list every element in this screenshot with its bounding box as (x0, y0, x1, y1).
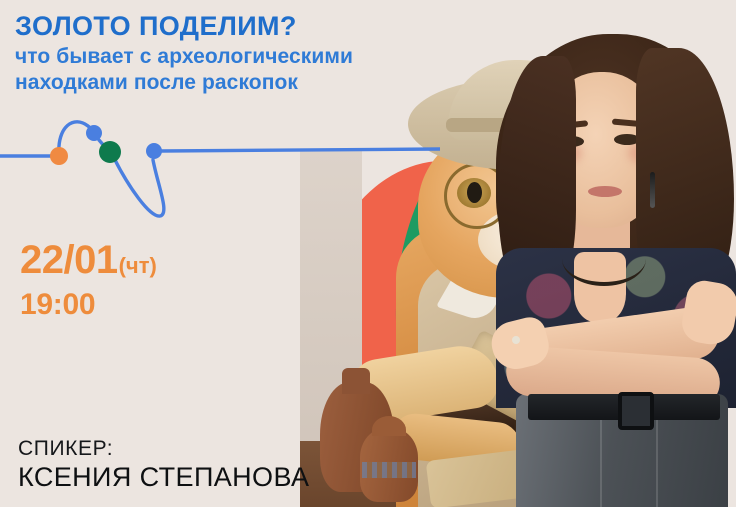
node-orange (50, 147, 68, 165)
headline-subtitle-line1: что бывает с археологическими (15, 45, 353, 68)
headline-block: ЗОЛОТО ПОДЕЛИМ? что бывает с археологиче… (15, 12, 475, 95)
woman-trousers-pleat (600, 420, 602, 507)
headline-subtitle: что бывает с археологическими находками … (15, 44, 475, 95)
event-poster: ЗОЛОТО ПОДЕЛИМ? что бывает с археологиче… (0, 0, 736, 507)
clay-pot-small-neck (372, 416, 406, 436)
node-green (99, 141, 121, 163)
woman-trousers-pleat (656, 420, 658, 507)
chart-line-right-segment (161, 149, 440, 151)
decorative-chart-line (0, 108, 440, 226)
woman-lips (588, 186, 622, 197)
datetime-block: 22/01 (чт) 19:00 (20, 240, 157, 320)
woman-earring (650, 172, 655, 208)
event-date: 22/01 (20, 240, 118, 280)
speaker-block: СПИКЕР: КСЕНИЯ СТЕПАНОВА (18, 437, 309, 494)
woman-belt-buckle (618, 392, 654, 430)
chart-line-dip-curve (114, 158, 164, 216)
speaker-name: КСЕНИЯ СТЕПАНОВА (18, 462, 309, 494)
woman-necklace (562, 232, 646, 286)
node-blue-left (86, 125, 102, 141)
woman-ring (512, 336, 520, 344)
clay-pot-small-pattern (362, 462, 416, 478)
speaker-label: СПИКЕР: (18, 437, 309, 462)
event-time: 19:00 (20, 290, 157, 320)
headline-subtitle-line2: находками после раскопок (15, 71, 298, 94)
date-row: 22/01 (чт) (20, 240, 157, 280)
clay-pot-large-neck (342, 368, 370, 394)
headline-title: ЗОЛОТО ПОДЕЛИМ? (15, 12, 475, 41)
event-weekday: (чт) (119, 255, 157, 277)
node-blue-right (146, 143, 162, 159)
